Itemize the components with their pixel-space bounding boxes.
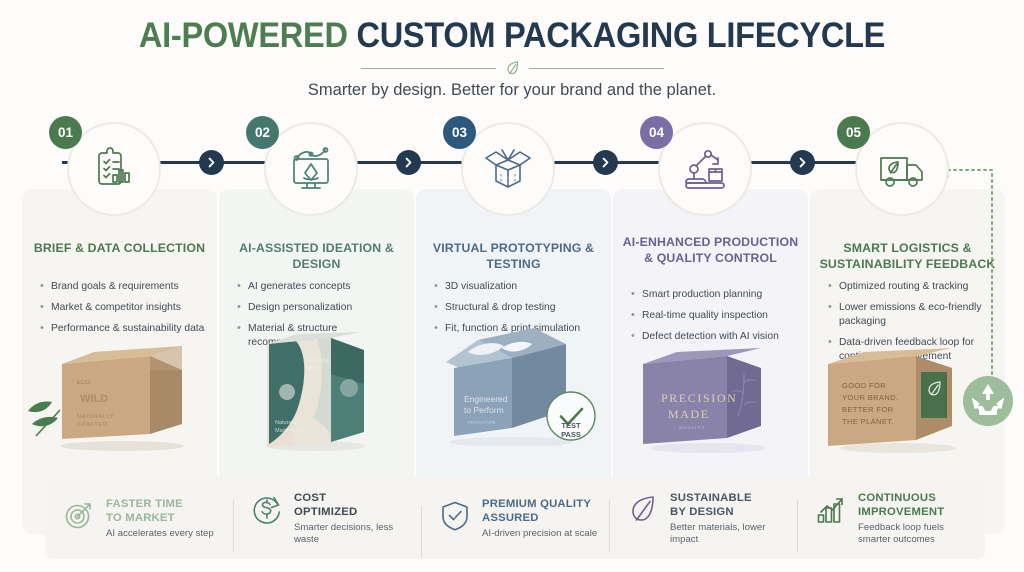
connector-arrow-4 [790, 150, 815, 175]
target-arrow-icon [63, 499, 95, 531]
benefit-heading: CONTINUOUS IMPROVEMENT [858, 491, 977, 519]
benefit-heading: SUSTAINABLE BY DESIGN [670, 491, 789, 519]
dollar-cycle-icon [251, 493, 283, 525]
svg-text:Engineered: Engineered [464, 394, 508, 404]
title-accent: AI-POWERED [139, 16, 348, 55]
robot-arm-conveyor-icon [677, 141, 733, 197]
benefit-item-continuous-improvement[interactable]: CONTINUOUS IMPROVEMENT Feedback loop fue… [797, 490, 985, 547]
svg-text:Botanical: Botanical [305, 358, 330, 364]
benefit-icon-wrap [815, 490, 849, 530]
benefit-text: PREMIUM QUALITY ASSURED AI-driven precis… [482, 496, 597, 541]
bullet-item: AI generates concepts [237, 280, 407, 294]
benefit-heading: PREMIUM QUALITY ASSURED [482, 497, 597, 525]
chevron-right-icon [206, 157, 217, 168]
page-subtitle: Smarter by design. Better for your brand… [0, 81, 1024, 100]
bullet-item: Brand goals & requirements [40, 280, 210, 294]
kraft-box-illustration: ECO WILD NATURALLY CRAFTED [22, 326, 217, 454]
benefit-subtext: AI accelerates every step [106, 528, 214, 541]
benefit-text: CONTINUOUS IMPROVEMENT Feedback loop fue… [858, 490, 977, 547]
bullet-item: Optimized routing & tracking [828, 280, 998, 294]
page-title: AI-POWERED CUSTOM PACKAGING LIFECYCLE [36, 16, 988, 56]
step-title-1: BRIEF & DATA COLLECTION [26, 240, 213, 256]
svg-text:MADE: MADE [668, 407, 710, 421]
test-pass-stamp: TEST PASS [547, 392, 595, 440]
infographic-canvas: AI-POWERED CUSTOM PACKAGING LIFECYCLE Sm… [0, 0, 1024, 572]
benefit-item-sustainable-by-design[interactable]: SUSTAINABLE BY DESIGN Better materials, … [609, 490, 797, 547]
svg-text:THE PLANET.: THE PLANET. [842, 417, 894, 426]
shield-check-icon [439, 499, 471, 531]
step-title-4: AI-ENHANCED PRODUCTION & QUALITY CONTROL [617, 234, 804, 266]
step-product-image-4: PRECISION MADE QUALITY [613, 330, 808, 458]
svg-text:Naturally: Naturally [275, 420, 297, 426]
blue-open-box-illustration: Engineered to Perform PROTOTYPE TEST PAS… [416, 318, 611, 446]
connector-arrow-3 [593, 150, 618, 175]
benefits-bar: FASTER TIME TO MARKET AI accelerates eve… [45, 477, 985, 559]
svg-text:QUALITY: QUALITY [679, 425, 705, 430]
svg-text:BETTER FOR: BETTER FOR [842, 405, 894, 414]
connector-arrow-2 [396, 150, 421, 175]
benefit-text: FASTER TIME TO MARKET AI accelerates eve… [106, 496, 214, 541]
bullet-item: Market & competitor insights [40, 301, 210, 315]
growth-chart-icon [815, 493, 847, 525]
bullet-item: 3D visualization [434, 280, 604, 294]
chevron-right-icon [403, 157, 414, 168]
svg-text:CRAFTED: CRAFTED [77, 422, 107, 428]
divider-line-right [529, 68, 664, 69]
monitor-design-pen-icon [284, 142, 338, 196]
svg-text:GOOD FOR: GOOD FOR [842, 381, 886, 390]
benefit-icon-wrap [251, 490, 285, 530]
svg-text:PROTOTYPE: PROTOTYPE [468, 420, 496, 425]
teal-carton-illustration: Botanical Blend Naturally Made Blend [219, 326, 414, 454]
svg-text:ECO: ECO [77, 380, 90, 386]
divider-line-left [361, 68, 496, 69]
chevron-right-icon [797, 157, 808, 168]
svg-text:PRECISION: PRECISION [661, 391, 737, 405]
step-number-badge-5: 05 [837, 116, 870, 149]
open-box-3d-icon [480, 141, 536, 197]
bullet-item: Lower emissions & eco-friendly packaging [828, 301, 998, 329]
step-product-image-3: Engineered to Perform PROTOTYPE TEST PAS… [416, 318, 611, 446]
step-number-badge-1: 01 [49, 116, 82, 149]
step-number-badge-2: 02 [246, 116, 279, 149]
benefit-subtext: Feedback loop fuels smarter outcomes [858, 522, 977, 547]
benefit-subtext: Better materials, lower impact [670, 522, 789, 547]
bullet-item: Real-time quality inspection [631, 309, 801, 323]
step-number-badge-3: 03 [443, 116, 476, 149]
chevron-right-icon [600, 157, 611, 168]
step-title-3: VIRTUAL PROTOTYPING & TESTING [420, 240, 607, 272]
title-main: CUSTOM PACKAGING LIFECYCLE [356, 16, 885, 55]
step-title-2: AI-ASSISTED IDEATION & DESIGN [223, 240, 410, 272]
benefit-icon-wrap [627, 490, 661, 530]
benefit-icon-wrap [63, 496, 97, 536]
svg-text:PASS: PASS [561, 430, 581, 439]
benefit-heading: COST OPTIMIZED [294, 491, 413, 519]
svg-text:to Perform: to Perform [464, 405, 504, 415]
bullet-item: Smart production planning [631, 288, 801, 302]
step-title-5: SMART LOGISTICS & SUSTAINABILITY FEEDBAC… [814, 240, 1001, 272]
svg-text:WILD: WILD [80, 393, 108, 405]
benefit-item-cost-optimized[interactable]: COST OPTIMIZED Smarter decisions, less w… [233, 490, 421, 547]
recycle-icon [962, 375, 1014, 427]
clipboard-checklist-chart-icon [88, 143, 140, 195]
leaf-icon [627, 493, 659, 525]
bullet-item: Design personalization [237, 301, 407, 315]
benefit-item-premium-quality-assured[interactable]: PREMIUM QUALITY ASSURED AI-driven precis… [421, 496, 609, 541]
svg-text:NATURALLY: NATURALLY [77, 414, 114, 420]
svg-text:YOUR BRAND.: YOUR BRAND. [842, 393, 899, 402]
benefit-icon-wrap [439, 496, 473, 536]
bullet-item: Structural & drop testing [434, 301, 604, 315]
step-product-image-1: ECO WILD NATURALLY CRAFTED [22, 326, 217, 454]
benefit-subtext: Smarter decisions, less waste [294, 522, 413, 547]
step-product-image-2: Botanical Blend Naturally Made Blend [219, 326, 414, 454]
step-number-badge-4: 04 [640, 116, 673, 149]
benefit-heading: FASTER TIME TO MARKET [106, 497, 214, 525]
leaf-icon [505, 60, 520, 77]
svg-text:TEST: TEST [561, 421, 581, 430]
benefit-text: COST OPTIMIZED Smarter decisions, less w… [294, 490, 413, 547]
delivery-truck-leaf-icon [873, 140, 931, 198]
connector-arrow-1 [199, 150, 224, 175]
benefit-text: SUSTAINABLE BY DESIGN Better materials, … [670, 490, 789, 547]
purple-box-illustration: PRECISION MADE QUALITY [613, 330, 808, 458]
benefit-item-faster-time-to-market[interactable]: FASTER TIME TO MARKET AI accelerates eve… [45, 496, 233, 541]
title-divider [0, 60, 1024, 77]
svg-text:Blend: Blend [305, 366, 320, 372]
benefit-subtext: AI-driven precision at scale [482, 528, 597, 541]
svg-text:Made Blend: Made Blend [275, 428, 304, 434]
